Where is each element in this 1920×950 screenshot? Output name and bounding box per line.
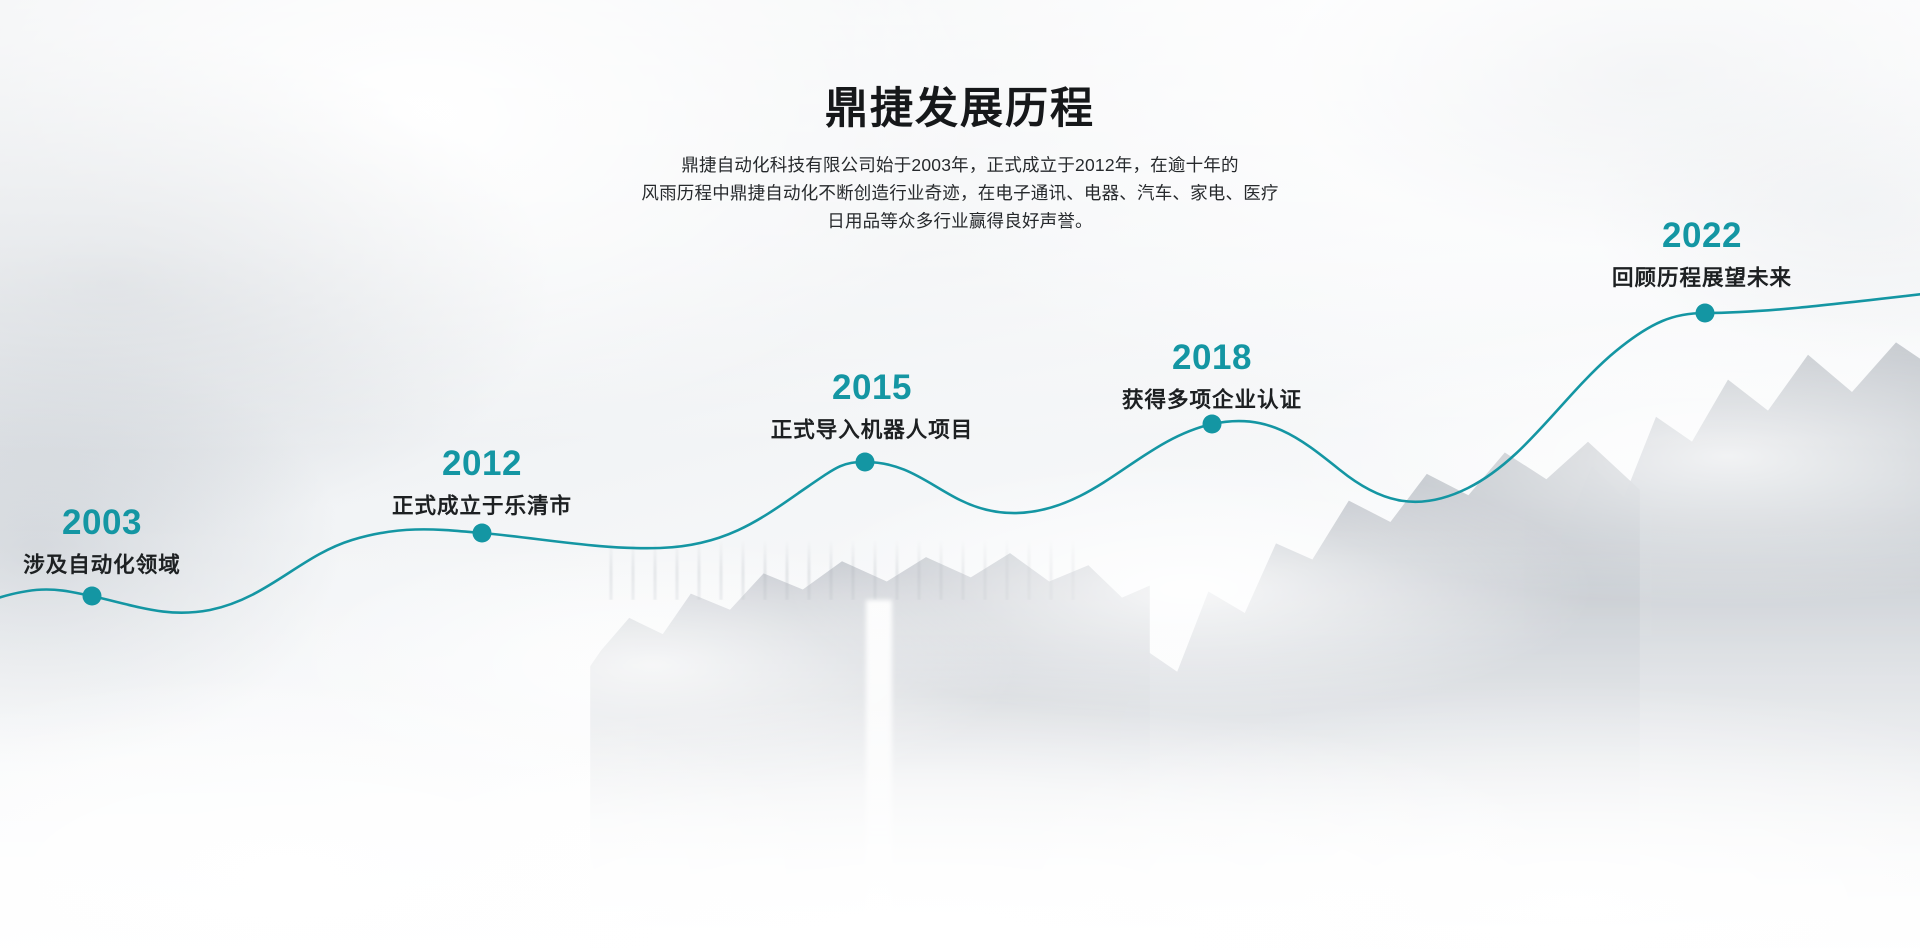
- timeline-dot[interactable]: [1203, 415, 1222, 434]
- milestone-description: 正式导入机器人项目: [771, 413, 974, 444]
- milestone-2018[interactable]: 2018获得多项企业认证: [1122, 340, 1302, 414]
- slide-canvas: 鼎捷发展历程 鼎捷自动化科技有限公司始于2003年，正式成立于2012年，在逾十…: [0, 0, 1920, 950]
- milestone-description: 正式成立于乐清市: [392, 489, 572, 520]
- timeline-dot[interactable]: [1696, 304, 1715, 323]
- milestone-year: 2018: [1122, 340, 1302, 377]
- milestone-2012[interactable]: 2012正式成立于乐清市: [392, 446, 572, 520]
- milestone-2003[interactable]: 2003涉及自动化领域: [23, 505, 181, 579]
- milestone-2015[interactable]: 2015正式导入机器人项目: [771, 370, 974, 444]
- header: 鼎捷发展历程 鼎捷自动化科技有限公司始于2003年，正式成立于2012年，在逾十…: [0, 86, 1920, 235]
- timeline-dot[interactable]: [856, 453, 875, 472]
- page-title: 鼎捷发展历程: [0, 86, 1920, 133]
- milestone-year: 2012: [392, 446, 572, 483]
- page-subtitle: 鼎捷自动化科技有限公司始于2003年，正式成立于2012年，在逾十年的 风雨历程…: [610, 151, 1310, 235]
- timeline-dot-group: [83, 304, 1715, 606]
- milestone-year: 2003: [23, 505, 181, 542]
- subtitle-line-3: 日用品等众多行业赢得良好声誉。: [610, 207, 1310, 235]
- milestone-description: 回顾历程展望未来: [1612, 261, 1792, 292]
- subtitle-line-1: 鼎捷自动化科技有限公司始于2003年，正式成立于2012年，在逾十年的: [610, 151, 1310, 179]
- milestone-description: 涉及自动化领域: [23, 548, 181, 579]
- subtitle-line-2: 风雨历程中鼎捷自动化不断创造行业奇迹，在电子通讯、电器、汽车、家电、医疗: [610, 179, 1310, 207]
- timeline-path: [0, 292, 1920, 613]
- timeline-dot[interactable]: [83, 587, 102, 606]
- timeline-dot[interactable]: [473, 524, 492, 543]
- milestone-description: 获得多项企业认证: [1122, 383, 1302, 414]
- milestone-year: 2015: [771, 370, 974, 407]
